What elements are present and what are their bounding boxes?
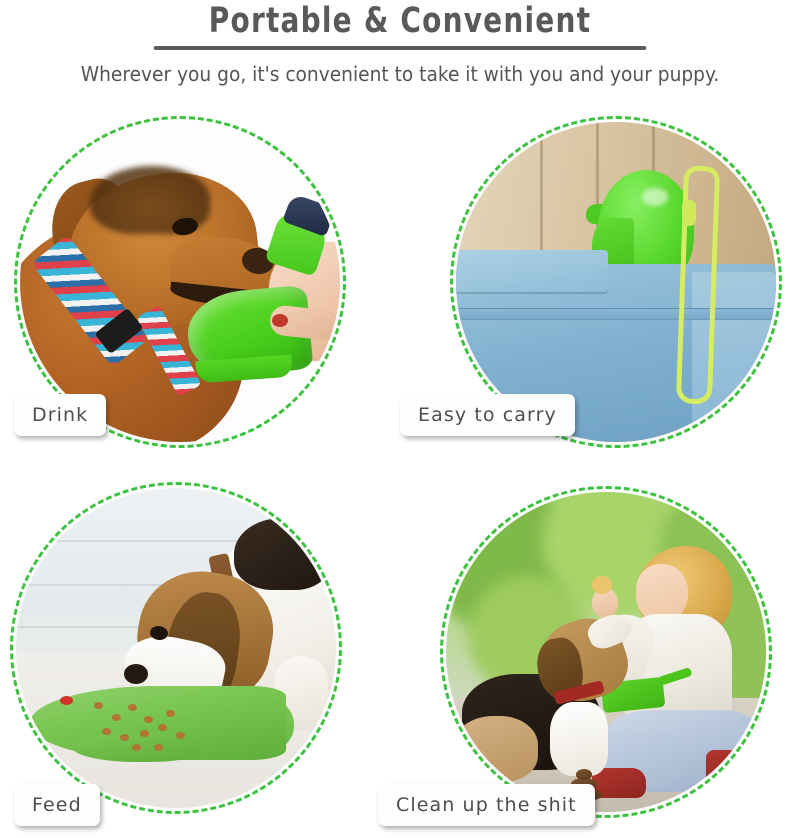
fingernail-shape <box>272 314 288 327</box>
panel-photo-clean-up <box>446 492 766 812</box>
panel-caption-drink[interactable]: Drink <box>14 394 106 436</box>
kibble-piece <box>154 744 163 751</box>
panel-caption-feed[interactable]: Feed <box>14 784 100 826</box>
bag-pocket-flap <box>456 250 608 294</box>
kibble-piece <box>94 702 103 709</box>
kibble-piece <box>140 730 149 737</box>
feature-panel-grid: Drink Easy to carry <box>0 94 800 834</box>
kibble-piece <box>132 744 141 751</box>
dog-treat-shape <box>592 576 612 594</box>
kibble-piece <box>128 704 137 711</box>
kibble-piece <box>166 710 175 717</box>
panel-caption-easy-to-carry[interactable]: Easy to carry <box>400 394 575 436</box>
beagle-nose-shape <box>124 664 148 684</box>
kibble-piece <box>112 714 121 721</box>
strap-slider-knob <box>682 200 696 226</box>
woman-sneaker <box>706 750 752 784</box>
panel-caption-clean-up[interactable]: Clean up the shit <box>378 784 595 826</box>
kibble-piece <box>102 728 111 735</box>
bottle-highlight <box>642 188 668 206</box>
scene-park-cleanup <box>446 492 766 812</box>
kibble-piece <box>144 716 153 723</box>
beagle-back-patch <box>234 518 330 590</box>
page-title: Portable & Convenient <box>80 2 720 40</box>
page-subtitle: Wherever you go, it's convenient to take… <box>28 62 772 86</box>
kibble-piece <box>120 734 129 741</box>
feeder-mat-eye-dot <box>60 696 73 705</box>
panel-photo-feed <box>16 488 336 808</box>
bag-seam <box>456 308 776 320</box>
kibble-piece <box>158 724 167 731</box>
feature-panel-easy-to-carry[interactable]: Easy to carry <box>400 94 800 464</box>
feature-panel-clean-up[interactable]: Clean up the shit <box>400 464 800 834</box>
title-underline-rule <box>154 46 646 50</box>
scene-beagle-feeding <box>16 488 336 808</box>
feature-panel-drink[interactable]: Drink <box>0 94 400 464</box>
kibble-piece <box>176 732 185 739</box>
page-header: Portable & Convenient Wherever you go, i… <box>0 0 800 86</box>
feature-panel-feed[interactable]: Feed <box>0 464 400 834</box>
beagle-rump-shape <box>452 716 538 782</box>
beagle-chest-shape <box>550 702 608 776</box>
